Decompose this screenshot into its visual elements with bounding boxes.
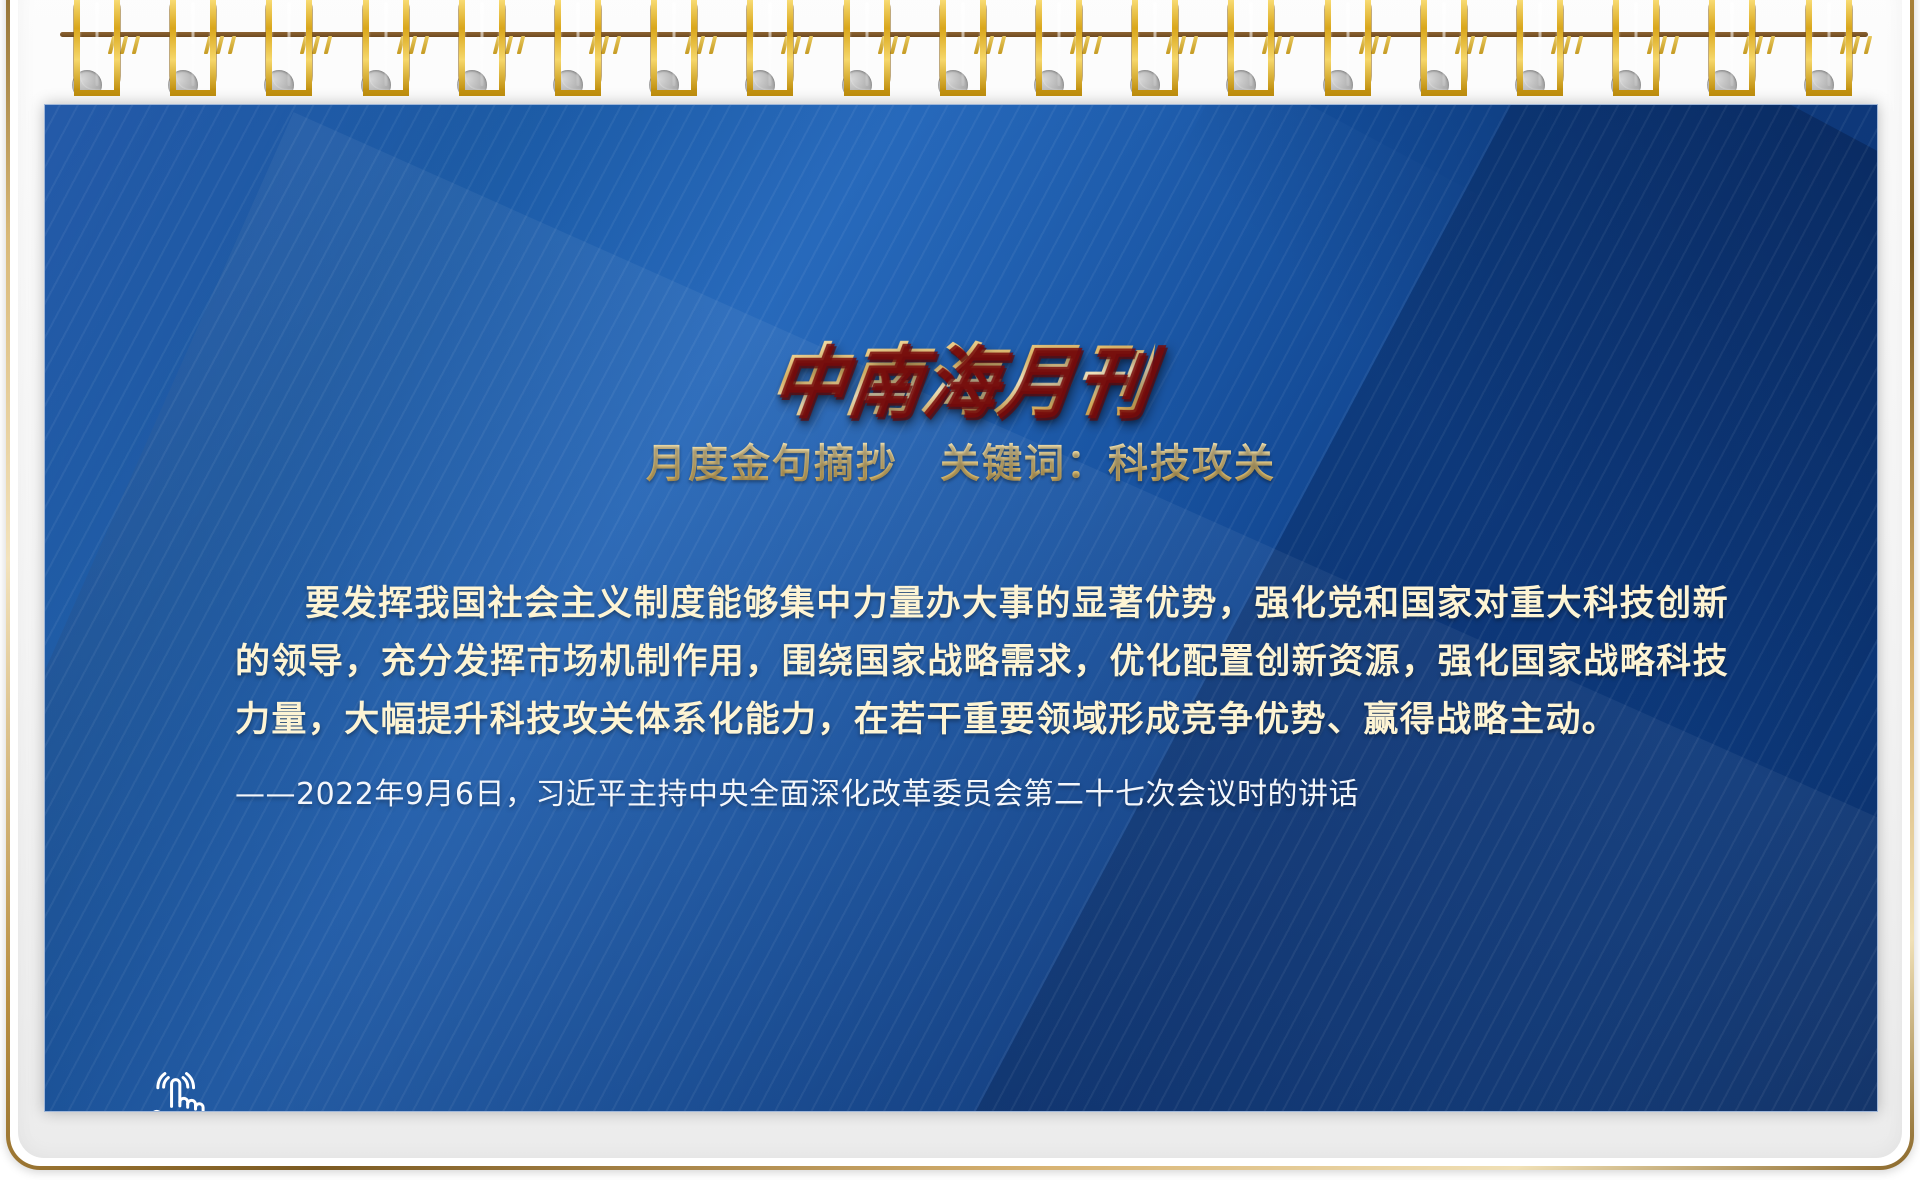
quote-attribution: ——2022年9月6日，习近平主持中央全面深化改革委员会第二十七次会议时的讲话: [235, 769, 1729, 813]
panel-content: 中南海月刊 月度金句摘抄 关键词：科技攻关 要发挥我国社会主义制度能够集中力量办…: [45, 105, 1877, 1111]
masthead: 中南海月刊: [45, 321, 1877, 428]
masthead-title: 中南海月刊: [763, 318, 1159, 431]
tap-hand-icon[interactable]: [141, 1067, 215, 1112]
slide-panel: 中南海月刊 月度金句摘抄 关键词：科技攻关 要发挥我国社会主义制度能够集中力量办…: [44, 104, 1878, 1112]
page-stage: 中南海月刊 月度金句摘抄 关键词：科技攻关 要发挥我国社会主义制度能够集中力量办…: [0, 0, 1920, 1180]
quote-body-text: 要发挥我国社会主义制度能够集中力量办大事的显著优势，强化党和国家对重大科技创新的…: [235, 575, 1729, 749]
subtitle: 月度金句摘抄 关键词：科技攻关: [45, 431, 1877, 489]
tap-hand-glyph: [141, 1067, 215, 1112]
